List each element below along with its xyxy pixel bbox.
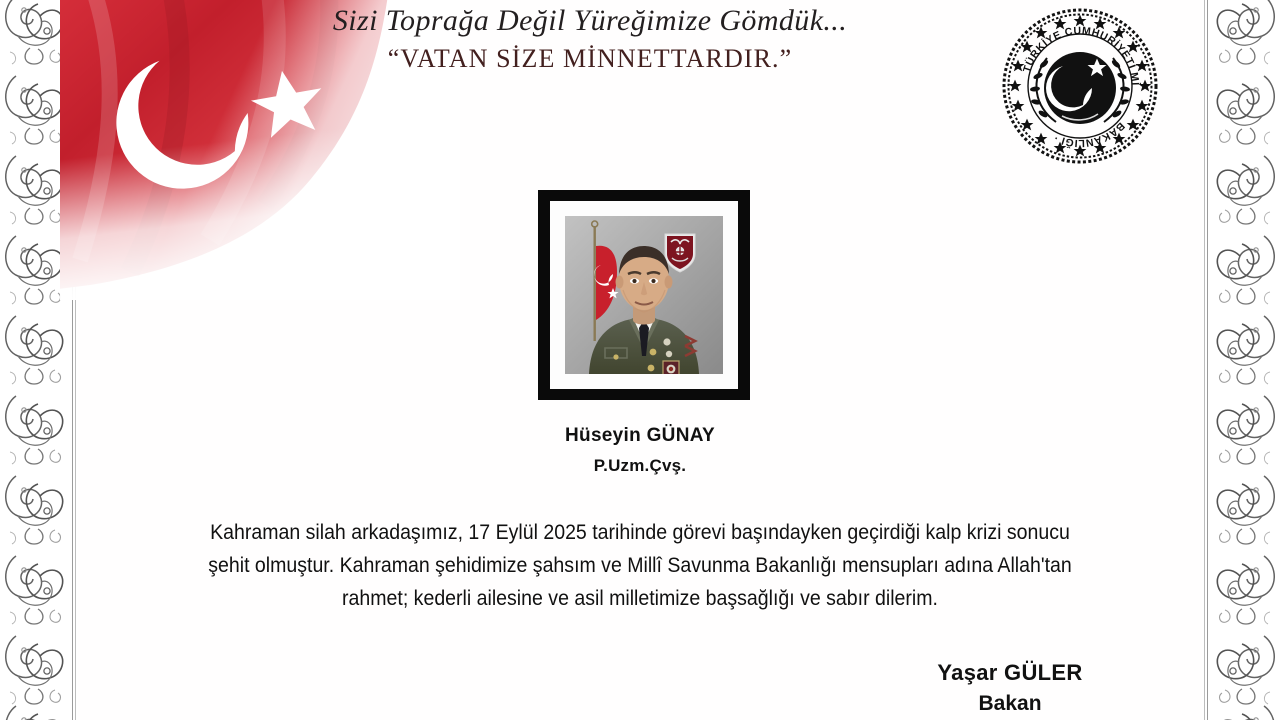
person-name-block: Hüseyin GÜNAY P.Uzm.Çvş. bbox=[440, 425, 840, 476]
ministry-seal-emblem: TÜRKİYE CUMHURİYETİ MİLLİ SAVUNMA BAKANL… bbox=[1000, 6, 1160, 166]
headline-line-1: Sizi Toprağa Değil Yüreğimize Gömdük... bbox=[180, 4, 1000, 38]
right-inner-rule-2 bbox=[1204, 0, 1205, 720]
signature-block: Yaşar GÜLER Bakan bbox=[860, 660, 1160, 716]
right-ornamental-border bbox=[1202, 0, 1280, 720]
message-line-1: Kahraman silah arkadaşımız, 17 Eylül 202… bbox=[156, 516, 1123, 549]
portrait-frame bbox=[538, 190, 750, 400]
person-name: Hüseyin GÜNAY bbox=[440, 425, 840, 447]
memorial-message: Kahraman silah arkadaşımız, 17 Eylül 202… bbox=[156, 516, 1123, 615]
person-rank: P.Uzm.Çvş. bbox=[440, 456, 840, 476]
portrait-photo bbox=[565, 216, 723, 374]
signatory-name: Yaşar GÜLER bbox=[860, 660, 1160, 686]
message-line-2: şehit olmuştur. Kahraman şehidimize şahs… bbox=[156, 549, 1123, 582]
right-inner-rule bbox=[1207, 0, 1208, 720]
signatory-title: Bakan bbox=[860, 692, 1160, 716]
message-line-3: rahmet; kederli ailesine ve asil milleti… bbox=[156, 582, 1123, 615]
memorial-page: TÜRKİYE CUMHURİYETİ MİLLİ SAVUNMA BAKANL… bbox=[0, 0, 1280, 720]
svg-text:BAKANLIĞI ·: BAKANLIĞI · bbox=[1051, 120, 1126, 150]
headline-line-2: “VATAN SİZE MİNNETTARDIR.” bbox=[180, 43, 1000, 75]
headline: Sizi Toprağa Değil Yüreğimize Gömdük... … bbox=[180, 0, 1000, 75]
